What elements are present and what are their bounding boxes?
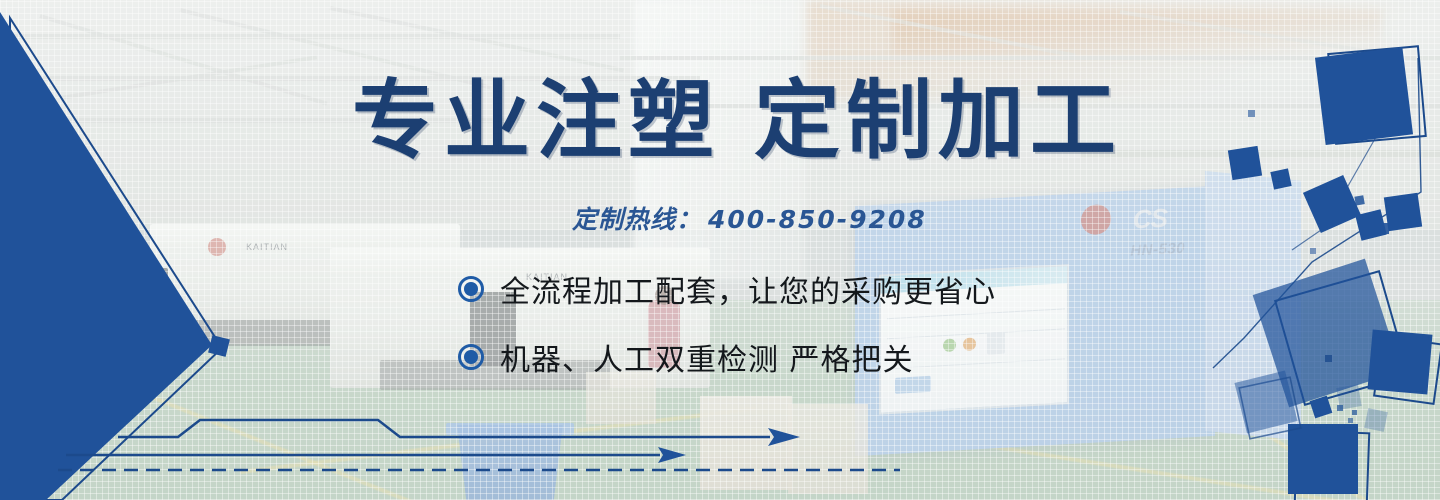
list-item: 机器、人工双重检测 严格把关 <box>458 334 996 380</box>
banner-content: 专业注塑定制加工 定制热线：400-850-9208 全流程加工配套，让您的采购… <box>0 0 1440 500</box>
list-item: 全流程加工配套，让您的采购更省心 <box>458 266 996 312</box>
page-title: 专业注塑定制加工 <box>352 78 1122 164</box>
headline-part-1: 专业注塑 <box>352 71 720 171</box>
radio-bullet-icon <box>458 276 484 302</box>
hotline-number[interactable]: 400-850-9208 <box>708 205 927 234</box>
feature-text: 全流程加工配套，让您的采购更省心 <box>500 267 996 311</box>
feature-list: 全流程加工配套，让您的采购更省心 机器、人工双重检测 严格把关 <box>458 266 996 402</box>
hotline: 定制热线：400-850-9208 <box>572 200 927 236</box>
hotline-label: 定制热线： <box>572 205 702 234</box>
feature-text: 机器、人工双重检测 严格把关 <box>500 335 914 379</box>
radio-bullet-icon <box>458 344 484 370</box>
headline-part-2: 定制加工 <box>754 71 1122 171</box>
promo-banner: KAITIAN KAITIAN CS HN-530 <box>0 0 1440 500</box>
